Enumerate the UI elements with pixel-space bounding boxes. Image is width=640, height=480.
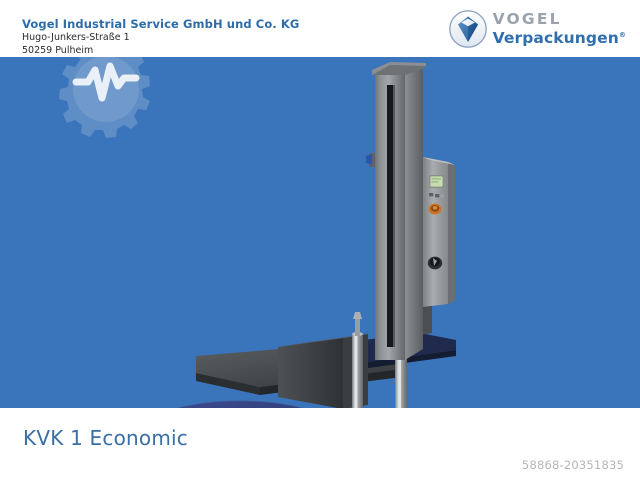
vogel-diamond-circle-logo-icon [448, 9, 488, 49]
pallet-stretch-wrapper-machine [0, 57, 640, 408]
control-panel [423, 157, 455, 307]
logo-text-verpackungen: Verpackungen® [493, 27, 626, 46]
page-header: Vogel Industrial Service GmbH und Co. KG… [0, 0, 640, 57]
registered-trademark-icon: ® [619, 31, 626, 39]
reference-number: 58868-20351835 [522, 458, 624, 472]
page-footer: KVK 1 Economic 58868-20351835 [0, 408, 640, 480]
product-model-title: KVK 1 Economic [23, 426, 188, 450]
company-name: Vogel Industrial Service GmbH und Co. KG [22, 17, 299, 31]
company-address-line-1: Hugo-Junkers-Straße 1 [22, 32, 299, 44]
logo-wordmark: VOGEL Verpackungen® [493, 11, 626, 46]
company-info-block: Vogel Industrial Service GmbH und Co. KG… [22, 17, 299, 58]
logo-text-vogel: VOGEL [493, 11, 626, 27]
company-address-line-2: 50259 Pulheim [22, 45, 299, 57]
product-sheet-page: Vogel Industrial Service GmbH und Co. KG… [0, 0, 640, 480]
mast-column [366, 62, 426, 360]
logo-text-verpackungen-word: Verpackungen [493, 30, 619, 48]
vogel-verpackungen-logo: VOGEL Verpackungen® [448, 7, 626, 51]
